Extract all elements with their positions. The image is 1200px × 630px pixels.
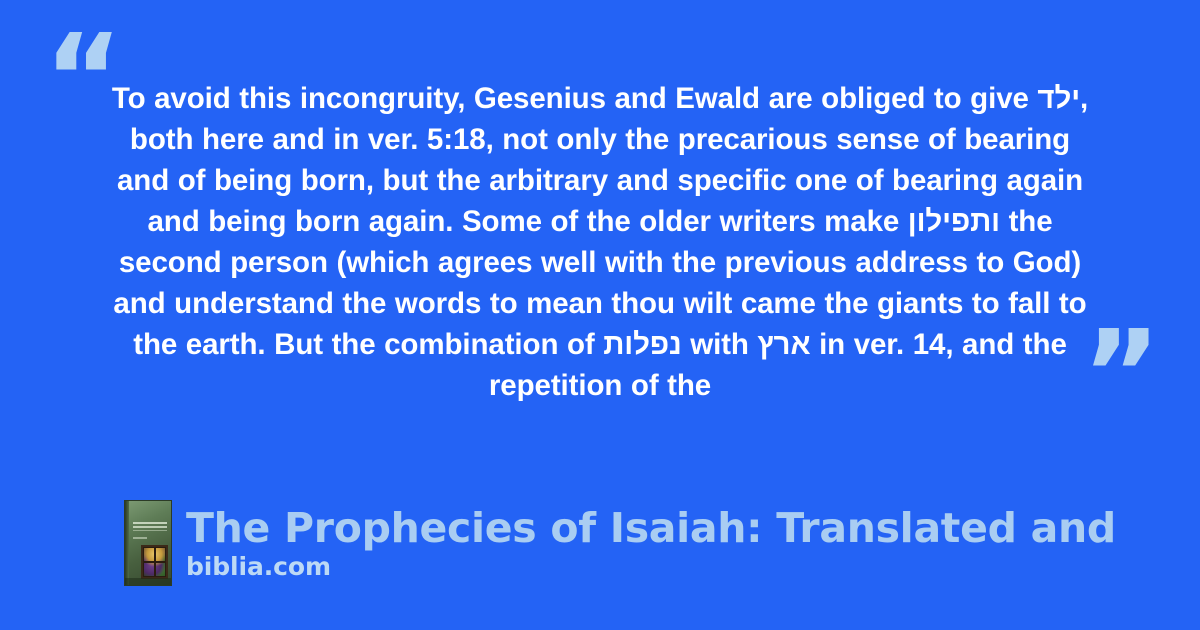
quote-block: To avoid this incongruity, Gesenius and … bbox=[110, 78, 1090, 406]
site-name: biblia.com bbox=[186, 552, 1116, 581]
quote-card: “ To avoid this incongruity, Gesenius an… bbox=[0, 0, 1200, 630]
book-cover-title-lines bbox=[133, 522, 167, 533]
window-mullion-horizontal bbox=[143, 561, 166, 563]
book-cover-base-band bbox=[125, 578, 171, 585]
closing-quote-icon: ” bbox=[1082, 316, 1159, 436]
attribution-footer: The Prophecies of Isaiah: Translated and… bbox=[124, 500, 1116, 586]
quote-text: To avoid this incongruity, Gesenius and … bbox=[110, 78, 1090, 406]
book-title: The Prophecies of Isaiah: Translated and bbox=[186, 505, 1116, 551]
book-cover-author-line bbox=[133, 537, 147, 539]
book-cover-thumbnail-icon bbox=[124, 500, 172, 586]
book-spine bbox=[125, 501, 129, 585]
stained-glass-window-illustration bbox=[141, 545, 168, 579]
attribution-text-group: The Prophecies of Isaiah: Translated and… bbox=[186, 505, 1116, 581]
